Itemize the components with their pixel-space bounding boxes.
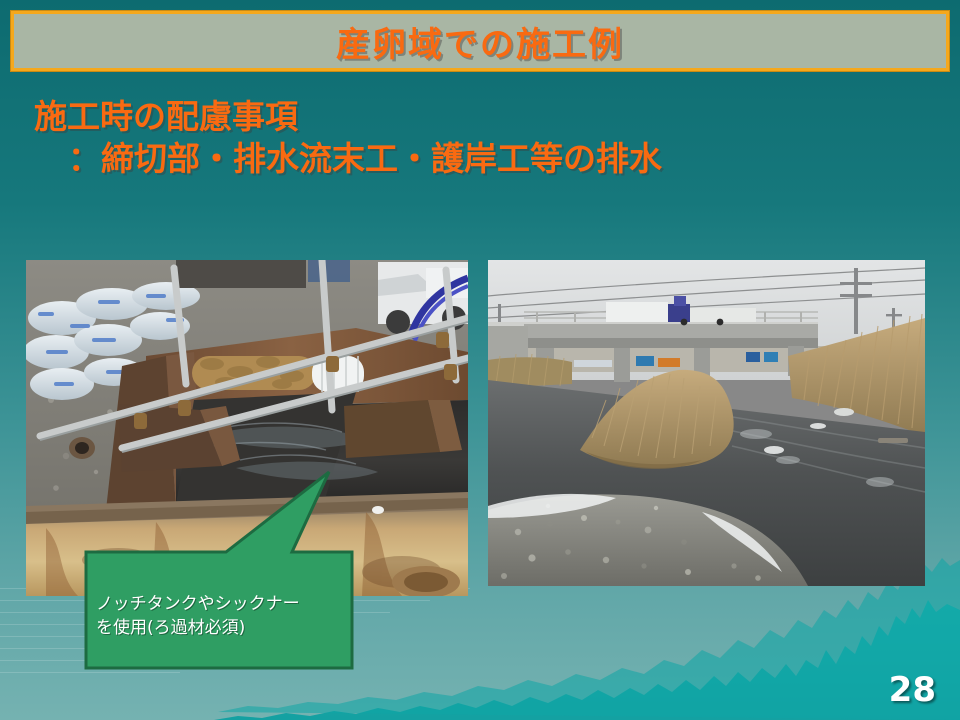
subtitle-line-2: ：締切部・排水流末工・護岸工等の排水: [34, 138, 924, 180]
callout-box: ノッチタンクやシックナー を使用(ろ過材必須): [80, 470, 360, 675]
callout-text: ノッチタンクやシックナー を使用(ろ過材必須): [96, 592, 346, 640]
slide-title-bar: 産卵域での施工例: [11, 11, 949, 71]
slide-canvas: 産卵域での施工例 施工時の配慮事項 ：締切部・排水流末工・護岸工等の排水: [0, 0, 960, 720]
page-title: 産卵域での施工例: [336, 17, 624, 66]
page-number: 28: [889, 670, 936, 710]
callout-line-1: ノッチタンクやシックナー: [96, 592, 346, 616]
subtitle-block: 施工時の配慮事項 ：締切部・排水流末工・護岸工等の排水: [34, 96, 924, 180]
river-bridge-photo: [488, 260, 925, 586]
callout-line-2: を使用(ろ過材必須): [96, 616, 346, 640]
subtitle-line-1: 施工時の配慮事項: [34, 96, 924, 138]
